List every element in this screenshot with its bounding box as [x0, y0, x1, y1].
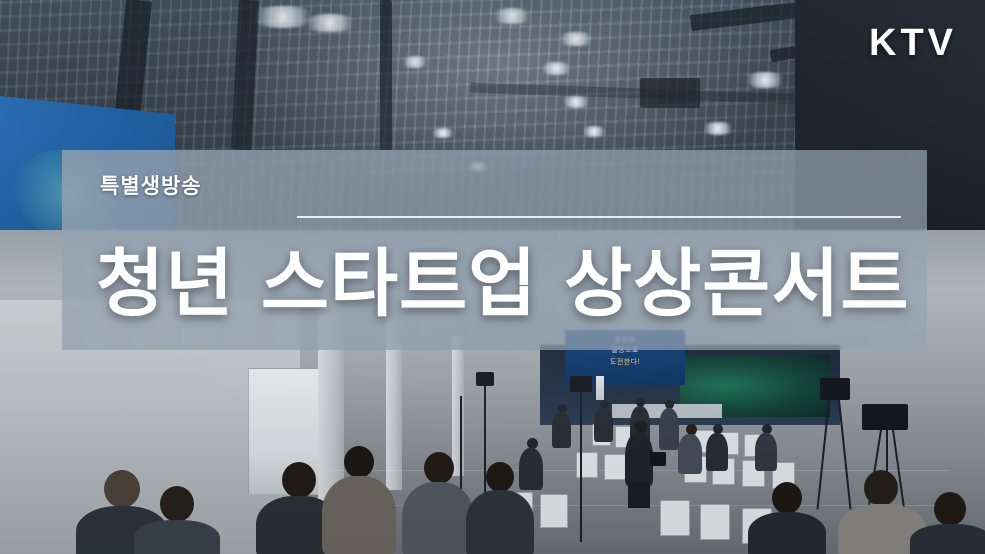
person [134, 520, 220, 554]
person [748, 512, 826, 554]
person [659, 408, 679, 450]
person-head [772, 482, 802, 514]
person [322, 476, 396, 554]
ceiling-beam [380, 0, 392, 150]
camera [820, 378, 850, 400]
person-legs [628, 482, 650, 508]
camera [862, 404, 908, 430]
chair [540, 494, 568, 528]
divider-rule [297, 216, 901, 218]
chair [700, 504, 730, 540]
person [594, 408, 613, 442]
ceiling-light [538, 62, 574, 75]
tripod-leg [580, 392, 582, 542]
person [519, 448, 543, 490]
ceiling-light [400, 56, 430, 68]
ceiling-light [430, 128, 456, 138]
channel-logo: KTV [869, 22, 957, 65]
person-head [282, 462, 316, 498]
program-title: 청년 스타트업 상상콘서트 [96, 224, 909, 331]
bag [650, 452, 666, 466]
camera [476, 372, 494, 386]
person-head [104, 470, 140, 508]
column [452, 336, 464, 476]
person-head [864, 470, 898, 506]
stage-banner-line3: 도전한다! [565, 358, 685, 367]
program-badge: 특별생방송 [100, 170, 202, 200]
person [755, 433, 777, 471]
tripod-leg [460, 396, 462, 496]
ceiling-light [580, 126, 608, 137]
person [706, 433, 728, 471]
person-head [934, 492, 966, 526]
ceiling-light [700, 122, 736, 135]
ceiling-light [300, 14, 360, 32]
person-head [424, 452, 454, 484]
person [552, 412, 571, 448]
channel-logo-text: KTV [869, 22, 957, 64]
person-head [344, 446, 374, 478]
camera [570, 376, 592, 392]
ceiling-light [490, 8, 534, 24]
person [678, 434, 702, 474]
lower-third-banner: 특별생방송 청년 스타트업 상상콘서트 [62, 150, 927, 350]
ceiling-light [556, 32, 596, 46]
chair [604, 454, 626, 480]
tripod-leg [484, 384, 486, 504]
broadcast-frame: 한국 우리의 열정으로 도전한다! [0, 0, 985, 554]
ceiling-light [742, 72, 788, 88]
chair [660, 500, 690, 536]
person [402, 482, 474, 554]
person [910, 524, 985, 554]
ceiling-light [560, 96, 592, 108]
person [466, 490, 534, 554]
stage-flag [596, 376, 604, 400]
person-head [160, 486, 194, 522]
person-head [486, 462, 514, 492]
person [625, 432, 653, 486]
